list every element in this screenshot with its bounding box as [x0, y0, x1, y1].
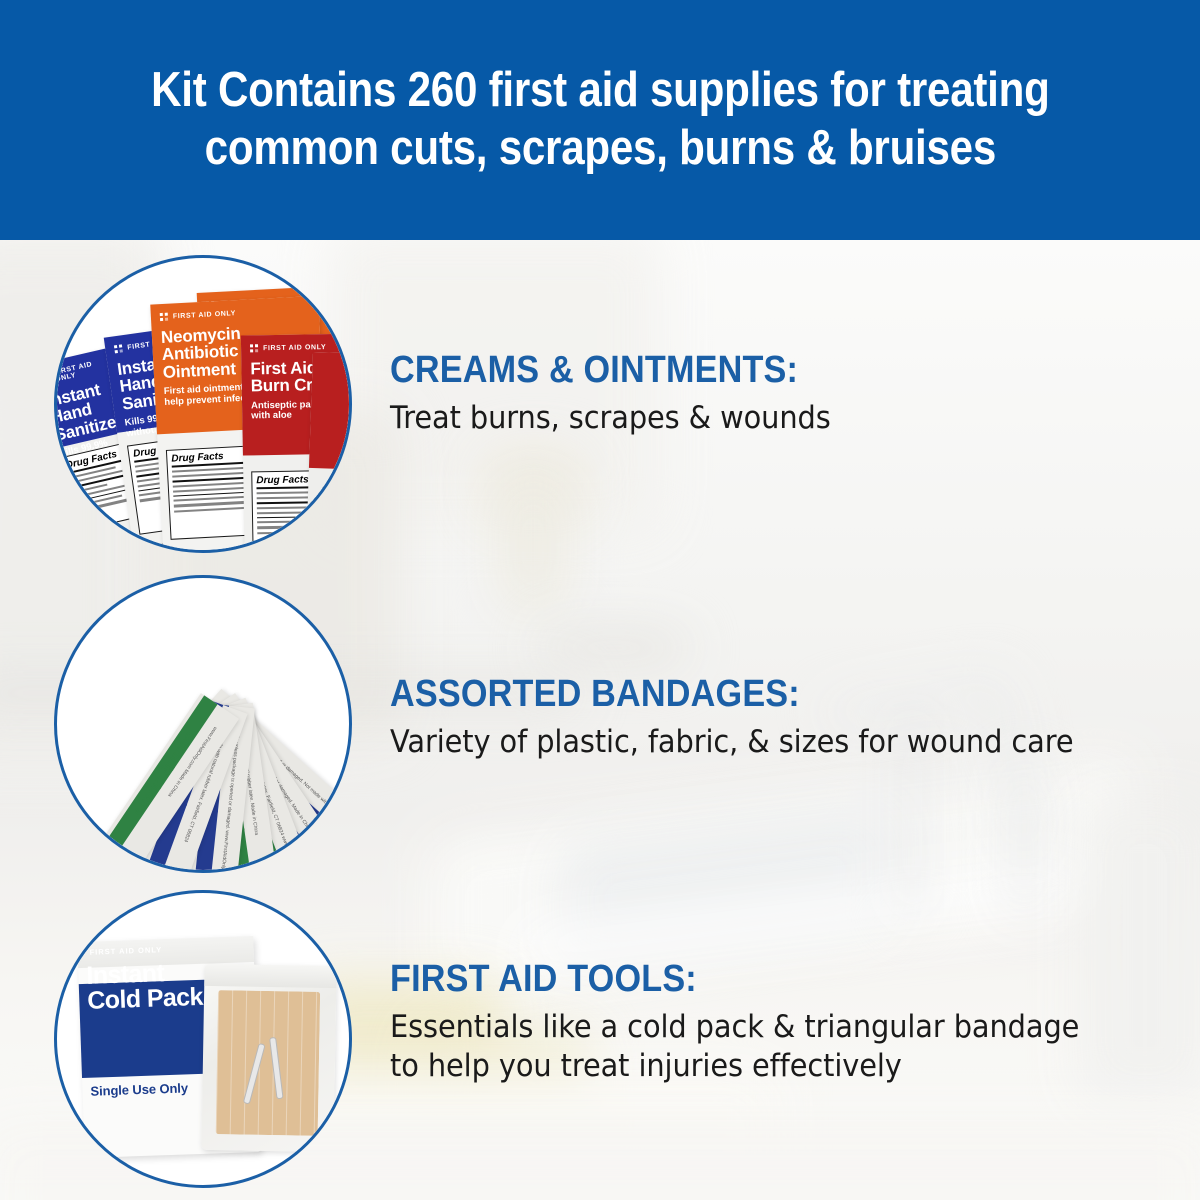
feature-description: Essentials like a cold pack & triangular… — [390, 1008, 1079, 1086]
product-photo-cold-pack-and-bandage: FIRST AID ONLY Instant Cold Pack Single … — [57, 893, 349, 1185]
feature-text-creams-ointments: CREAMS & OINTMENTS: Treat burns, scrapes… — [390, 255, 864, 438]
product-name: Instant Cold Pack — [86, 960, 203, 1013]
feature-description: Variety of plastic, fabric, & sizes for … — [390, 723, 1073, 762]
packet-header — [309, 352, 349, 472]
feature-text-first-aid-tools: FIRST AID TOOLS: Essentials like a cold … — [390, 890, 1131, 1086]
triangular-bandage-package — [201, 964, 336, 1152]
brand-name: FIRST AID ONLY — [173, 310, 236, 320]
feature-row-assorted-bandages: Knuckle Fabric Bandage Sterile unless pa… — [0, 575, 1125, 873]
product-photo-circle-assorted-bandages: Knuckle Fabric Bandage Sterile unless pa… — [54, 575, 352, 873]
product-photo-bandage-wrappers: Knuckle Fabric Bandage Sterile unless pa… — [57, 578, 349, 870]
feature-title: ASSORTED BANDAGES: — [390, 675, 1051, 715]
packet-burn-cream-back — [305, 352, 349, 550]
gauze-fabric — [216, 990, 320, 1136]
package-ruffle-top — [204, 964, 336, 988]
product-photo-circle-first-aid-tools: FIRST AID ONLY Instant Cold Pack Single … — [54, 890, 352, 1188]
feature-title: CREAMS & OINTMENTS: — [390, 351, 816, 391]
first-aid-only-logo-icon: FIRST AID ONLY — [160, 305, 311, 322]
net-weight-label: NET WT 0.9 g — [173, 547, 225, 550]
product-feature-infographic: Kit Contains 260 first aid supplies for … — [0, 0, 1200, 1200]
brand-name: FIRST AID ONLY — [263, 344, 326, 352]
feature-row-creams-ointments: FIRST AID ONLY Instant Hand Sanitizer Ki… — [0, 255, 864, 553]
brand-mark-icon — [160, 313, 169, 322]
headline-banner: Kit Contains 260 first aid supplies for … — [0, 0, 1200, 240]
first-aid-only-logo-icon: FIRST AID ONLY — [250, 342, 349, 354]
brand-mark-icon — [114, 344, 124, 354]
product-photo-circle-creams-ointments: FIRST AID ONLY Instant Hand Sanitizer Ki… — [54, 255, 352, 553]
headline-text: Kit Contains 260 first aid supplies for … — [151, 62, 1049, 178]
product-tagline: Single Use Only — [90, 1080, 188, 1098]
product-photo-ointment-packets: FIRST AID ONLY Instant Hand Sanitizer Ki… — [57, 258, 349, 550]
brand-mark-icon — [250, 344, 259, 353]
feature-title: FIRST AID TOOLS: — [390, 960, 1057, 1000]
feature-description: Treat burns, scrapes & wounds — [390, 399, 831, 438]
feature-row-first-aid-tools: FIRST AID ONLY Instant Cold Pack Single … — [0, 890, 1131, 1188]
feature-text-assorted-bandages: ASSORTED BANDAGES: Variety of plastic, f… — [390, 575, 1125, 762]
